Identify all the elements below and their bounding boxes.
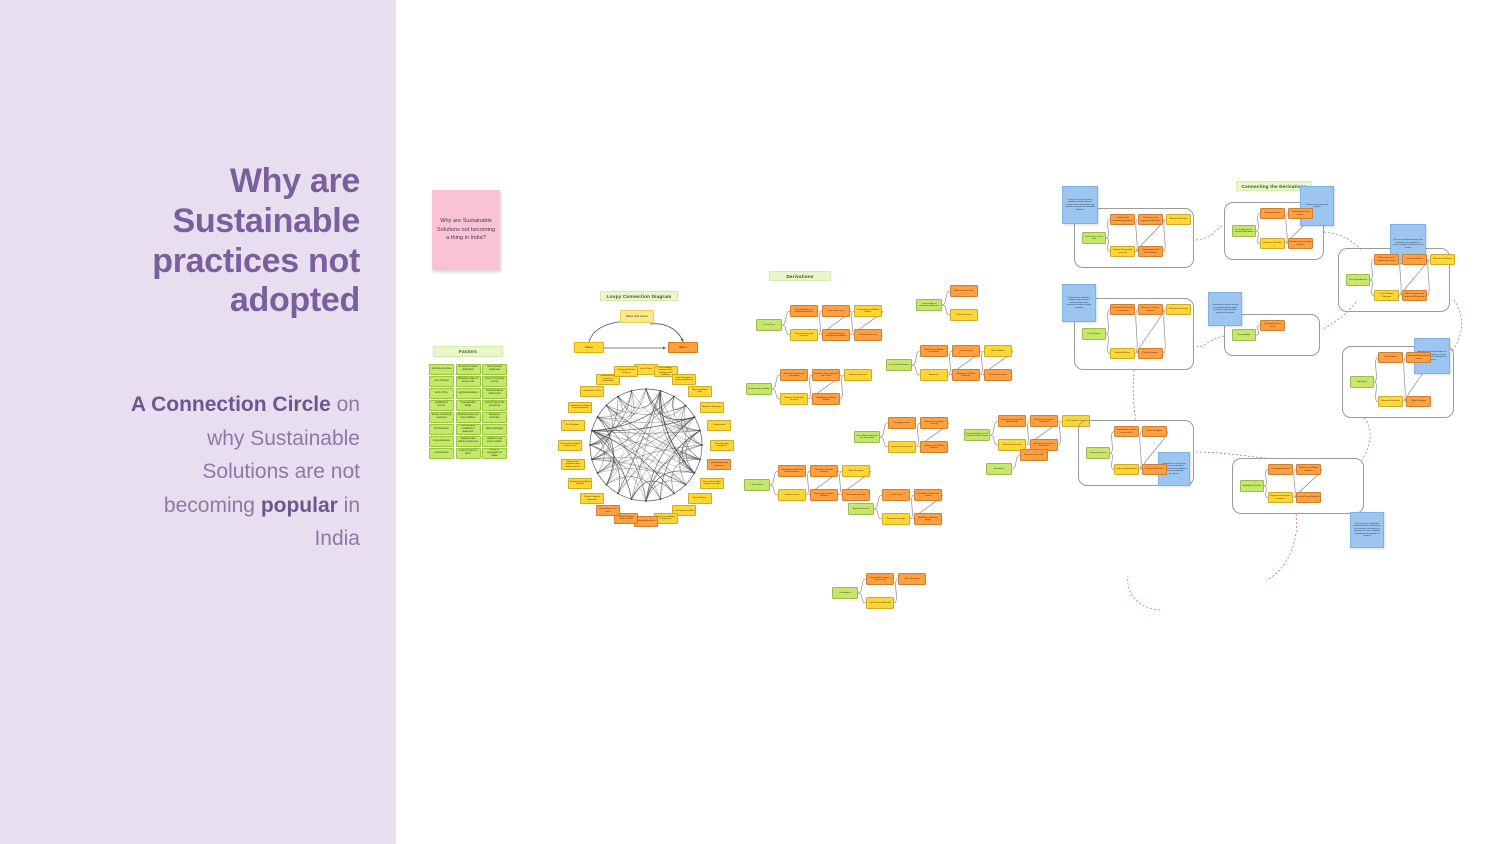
- factor-card[interactable]: Lack of Time: [429, 388, 454, 399]
- factor-card[interactable]: Agricultural wastes: [456, 388, 481, 399]
- connection-circle: Lack of TimeLess Storage, consumers are …: [546, 360, 746, 530]
- derivation-node[interactable]: Segregation & Water Shortages: [952, 369, 980, 381]
- insight-sticky-note[interactable]: Wastes aren't consumed properly: [1300, 186, 1334, 226]
- derivation-start-node[interactable]: Convenience: [832, 587, 858, 599]
- connecting-node[interactable]: Water Shortages: [1142, 426, 1167, 437]
- connection-circle-node[interactable]: Lack of people awareness: [710, 440, 734, 451]
- factor-card[interactable]: Tough behaviour which is old: [482, 388, 507, 399]
- question-sticky-note[interactable]: Why are Sustainable Solutions not becomi…: [432, 190, 500, 270]
- legend-effect: Effect: [668, 342, 698, 353]
- connecting-node[interactable]: Consumerism leads: [1268, 464, 1293, 475]
- connection-circle-node[interactable]: Lack of Space: [688, 493, 712, 504]
- connecting-node[interactable]: Less consumption: [1402, 254, 1427, 265]
- derivation-node[interactable]: Water Shortages: [842, 465, 870, 477]
- connecting-node[interactable]: Causes of the sustainable procedures: [1110, 214, 1135, 225]
- header-factors: Factors: [433, 346, 503, 357]
- connecting-node[interactable]: Lack of Space: [1378, 352, 1403, 363]
- factor-card[interactable]: Source of Learning resources: [429, 412, 454, 423]
- connecting-node[interactable]: Recycling services facility: [1260, 320, 1285, 331]
- factor-card[interactable]: Lack of Space: [429, 376, 454, 387]
- legend-effect-and-cause: Effect and Cause: [620, 310, 654, 323]
- connection-circle-node[interactable]: Consumerism is an Issue: [596, 505, 620, 516]
- connecting-node[interactable]: Resources and Water Pollution: [1296, 464, 1321, 475]
- connecting-node[interactable]: Resources and wastes of misuse: [1268, 492, 1293, 503]
- legend-cause: Cause: [574, 342, 604, 353]
- derivation-node[interactable]: Less awareness and resources: [790, 329, 818, 341]
- derivation-node[interactable]: Resources Scarcities: [882, 513, 910, 525]
- title-panel: Why are Sustainable practices not adopte…: [0, 0, 396, 844]
- page-title: Why are Sustainable practices not adopte…: [70, 162, 360, 321]
- derivation-node[interactable]: Unaware of recycling, servicing: [920, 417, 948, 429]
- derivation-start-node[interactable]: Lack of Space: [744, 479, 770, 491]
- derivation-node[interactable]: Resource Scarcities: [854, 329, 882, 341]
- connecting-start-node[interactable]: Lack of Time / no of Time: [1082, 232, 1106, 244]
- connecting-node[interactable]: Water Shortages: [1138, 348, 1163, 359]
- factor-card[interactable]: Less awareness: [429, 436, 454, 447]
- factor-card[interactable]: Resources Scarcities: [482, 412, 507, 423]
- derivation-node[interactable]: Unaware of recycling/ servicing: [780, 393, 808, 405]
- factor-card[interactable]: Lack of people awareness: [482, 364, 507, 375]
- connecting-node[interactable]: Water Transport & Industrial procedures: [1374, 254, 1399, 265]
- factor-card[interactable]: Lesser of reuse of items: [456, 448, 481, 459]
- connection-circle-node[interactable]: Environment: [707, 420, 731, 431]
- connection-circle-node[interactable]: Very unaware about resources at sight: [700, 478, 724, 489]
- connecting-node[interactable]: Industrial Wastes: [1110, 348, 1135, 359]
- connection-circle-node[interactable]: Pre Pandemic: [561, 420, 585, 431]
- connecting-start-node[interactable]: Convenience Issue: [1086, 447, 1110, 459]
- derivation-node[interactable]: Lesser recycling Centres: [888, 441, 916, 453]
- connecting-start-node[interactable]: Lack of Awareness from the Government: [1232, 225, 1256, 237]
- connecting-node[interactable]: Consumerism and Water Pollution: [1138, 246, 1163, 257]
- derivation-node[interactable]: Resources Scarcities: [1020, 449, 1048, 461]
- loopy-connection-diagram: Effect and Cause Cause Effect Lack of Ti…: [546, 300, 746, 530]
- derivation-node[interactable]: Inability to sort Waste Disposal: [920, 441, 948, 453]
- factor-card[interactable]: Industries that pollute environment: [456, 436, 481, 447]
- connecting-node[interactable]: Consumerism leads and wastes: [1406, 352, 1431, 363]
- factor-card[interactable]: Availability of Service: [429, 400, 454, 411]
- connecting-node[interactable]: No proper means: [1260, 208, 1285, 219]
- derivation-node[interactable]: Unaware of recycling & segregation: [780, 369, 808, 381]
- derivation-node[interactable]: Consumerism and Waste Matters: [854, 305, 882, 317]
- derivation-node[interactable]: Resource Scarcities: [844, 369, 872, 381]
- derivation-start-node[interactable]: Lack of Awareness from the Government: [854, 431, 880, 443]
- factor-card[interactable]: No result in instant gratification: [456, 364, 481, 375]
- derivation-node[interactable]: Recycle and industry procedures: [920, 345, 948, 357]
- derivation-node[interactable]: Resources of waste materials: [810, 465, 838, 477]
- derivation-node[interactable]: No proper means: [888, 417, 916, 429]
- factor-card[interactable]: Post Pandemic conditions of awareness: [456, 424, 481, 435]
- connection-circle-node[interactable]: Industries polluting emissions: [707, 459, 731, 470]
- page-subtitle: A Connection Circle on why Sustainable S…: [120, 388, 360, 556]
- factor-card[interactable]: Unable to seek proper solution: [482, 436, 507, 447]
- connection-circle-node[interactable]: Very tough Wastes Services: [614, 366, 638, 377]
- insight-sticky-note[interactable]: Lack of space and land is causing a majo…: [1062, 284, 1096, 322]
- derivation-start-node[interactable]: Lack of Time: [756, 319, 782, 331]
- factor-card[interactable]: Lesser of segregation of waste: [482, 448, 507, 459]
- connecting-node[interactable]: Resource Scarcities: [1166, 214, 1191, 225]
- derivation-node[interactable]: Resources and water Pollution: [810, 489, 838, 501]
- factor-card[interactable]: Convenience Issue: [429, 364, 454, 375]
- derivation-node[interactable]: Busy Schedules, no sustainable practices: [790, 305, 818, 317]
- derivation-node[interactable]: Water Shortages: [898, 573, 926, 585]
- connection-circle-node[interactable]: Wastes from properties and services we u…: [561, 459, 585, 470]
- connection-circle-node[interactable]: Convenience Issue: [580, 386, 604, 397]
- connecting-start-node[interactable]: Lack of Space: [1082, 328, 1106, 340]
- connection-circle-node[interactable]: Limited no of it Hazard of waste materia…: [568, 402, 592, 413]
- connecting-node[interactable]: Unaware of recycling/ servicing: [1110, 246, 1135, 257]
- factor-card[interactable]: Lesser of recycling centres: [482, 376, 507, 387]
- connecting-start-node[interactable]: Agriculture: [1350, 376, 1374, 388]
- slide-canvas: Why are Sustainable practices not adopte…: [0, 0, 1500, 844]
- derivation-node[interactable]: Resources needed for growth: [914, 513, 942, 525]
- derivation-node[interactable]: Water Pollution: [984, 345, 1012, 357]
- connection-circle-node[interactable]: Major awareness crisis: [688, 386, 712, 397]
- connecting-node[interactable]: Resources from congested end of uses: [1138, 214, 1163, 225]
- factor-card[interactable]: Resources does not have sufficient: [456, 412, 481, 423]
- derivation-start-node[interactable]: Less of Time Resources: [886, 359, 912, 371]
- connecting-node[interactable]: Resources Scarcities: [1378, 396, 1403, 407]
- derivation-node[interactable]: Resources and Water Pollution: [812, 393, 840, 405]
- connecting-node[interactable]: Consumerism leads wastes: [1288, 208, 1313, 219]
- insight-sticky-note[interactable]: Consumerism and the scarcity of recyclin…: [1208, 292, 1242, 326]
- derivation-node[interactable]: Resource Scarcities: [984, 369, 1012, 381]
- connecting-node[interactable]: Resources Scarcities: [1166, 304, 1191, 315]
- connecting-node[interactable]: Lack of Proper Provisions: [1374, 290, 1399, 301]
- connection-circle-node[interactable]: Private Capital of individuals: [580, 493, 604, 504]
- factor-card[interactable]: Hazardous waste of factory units: [456, 376, 481, 387]
- subtitle-bold-c: popular: [261, 494, 338, 517]
- connecting-start-node[interactable]: Time Dependencies: [1346, 274, 1370, 286]
- connecting-node[interactable]: Resources of waste materials: [1138, 304, 1163, 315]
- derivation-node[interactable]: Awareness: [920, 369, 948, 381]
- connecting-node[interactable]: Resource Scarcities: [1142, 464, 1167, 475]
- derivation-node[interactable]: Industrial wastes: [778, 489, 806, 501]
- insight-sticky-note[interactable]: Lack of Time causes a lot of problems wh…: [1062, 186, 1098, 224]
- factor-card[interactable]: Water Shortages: [482, 424, 507, 435]
- derivation-start-node[interactable]: Availability: [986, 463, 1012, 475]
- derivation-node[interactable]: Resources Scarcities: [950, 285, 978, 297]
- derivation-node[interactable]: Consumerism leads and wastes: [914, 489, 942, 501]
- derivation-node[interactable]: Resources Scarcities: [842, 489, 870, 501]
- derivation-node[interactable]: Consumerism takes land upon continuous: [778, 465, 806, 477]
- derivation-node[interactable]: Recycling and availing of wastes on life: [998, 415, 1026, 427]
- derivation-node[interactable]: Less time taken for sustainable procedur…: [822, 329, 850, 341]
- whiteboard[interactable]: Why are Sustainable Solutions not becomi…: [396, 0, 1500, 844]
- derivation-start-node[interactable]: Land changes of consuming awareness: [916, 299, 942, 311]
- derivation-node[interactable]: Lack of Proper Materials: [866, 597, 894, 609]
- connection-circle-node[interactable]: Less Shortages of energy experienced: [672, 374, 696, 385]
- subtitle-bold-a: A Connection Circle: [131, 393, 331, 416]
- connecting-node[interactable]: Lack of proper materials: [1114, 464, 1139, 475]
- factors-grid: Convenience IssueNo result in instant gr…: [429, 364, 507, 459]
- connection-circle-node[interactable]: Electronic Shortages: [700, 402, 724, 413]
- derivation-start-node[interactable]: Every Individual's Lack of awareness abo…: [964, 429, 990, 441]
- derivation-node[interactable]: Resources have congested end of uses: [812, 369, 840, 381]
- derivation-start-node[interactable]: Agricultural Lands: [848, 503, 874, 515]
- derivations-area: Lack of TimeBusy Schedules, no sustainab…: [736, 275, 1096, 625]
- connecting-node[interactable]: Water Shortages: [1406, 396, 1431, 407]
- derivation-node[interactable]: Consumerism Leads to waste on life: [866, 573, 894, 585]
- connecting-node[interactable]: Resource Scarcities: [1260, 238, 1285, 249]
- connecting-node[interactable]: Water consumers and materials of Product…: [1402, 290, 1427, 301]
- connecting-start-node[interactable]: Unsustainable: [1232, 329, 1256, 341]
- connecting-derivations-area: Lack of Time causes a lot of problems wh…: [1056, 180, 1500, 680]
- connection-circle-node[interactable]: Residential and Water Pollution: [568, 478, 592, 489]
- factor-card[interactable]: Consumerism: [429, 448, 454, 459]
- connecting-node[interactable]: Lack of Proper Materials: [1296, 492, 1321, 503]
- factor-card[interactable]: Lack of trust on the procedures: [482, 400, 507, 411]
- connection-circle-node[interactable]: No Long Term Good Inform on Life: [558, 440, 582, 451]
- connecting-node[interactable]: Consumerism takes land on continuous: [1110, 304, 1135, 315]
- derivation-node[interactable]: Lack of Space: [882, 489, 910, 501]
- derivation-node[interactable]: Proper resources: [950, 309, 978, 321]
- derivation-node[interactable]: Convenience Issue: [822, 305, 850, 317]
- connecting-node[interactable]: Consumerism Leads to wastes of life: [1114, 426, 1139, 437]
- derivation-start-node[interactable]: Unsustainable conditions: [746, 383, 772, 395]
- insight-sticky-note[interactable]: The scarcity of sustainable facilities a…: [1350, 512, 1384, 548]
- connecting-node[interactable]: Resources of Wastes: [1430, 254, 1455, 265]
- connecting-start-node[interactable]: Availability of Service: [1240, 480, 1264, 492]
- factor-card[interactable]: Understanding facility: [456, 400, 481, 411]
- derivation-node[interactable]: Resources at specific conditions: [1030, 415, 1058, 427]
- factor-card[interactable]: Pre Pandemic: [429, 424, 454, 435]
- connecting-node[interactable]: Resources on end stage Pollution: [1288, 238, 1313, 249]
- title-block: Why are Sustainable practices not adopte…: [70, 162, 360, 321]
- derivation-node[interactable]: Lack of facility: [952, 345, 980, 357]
